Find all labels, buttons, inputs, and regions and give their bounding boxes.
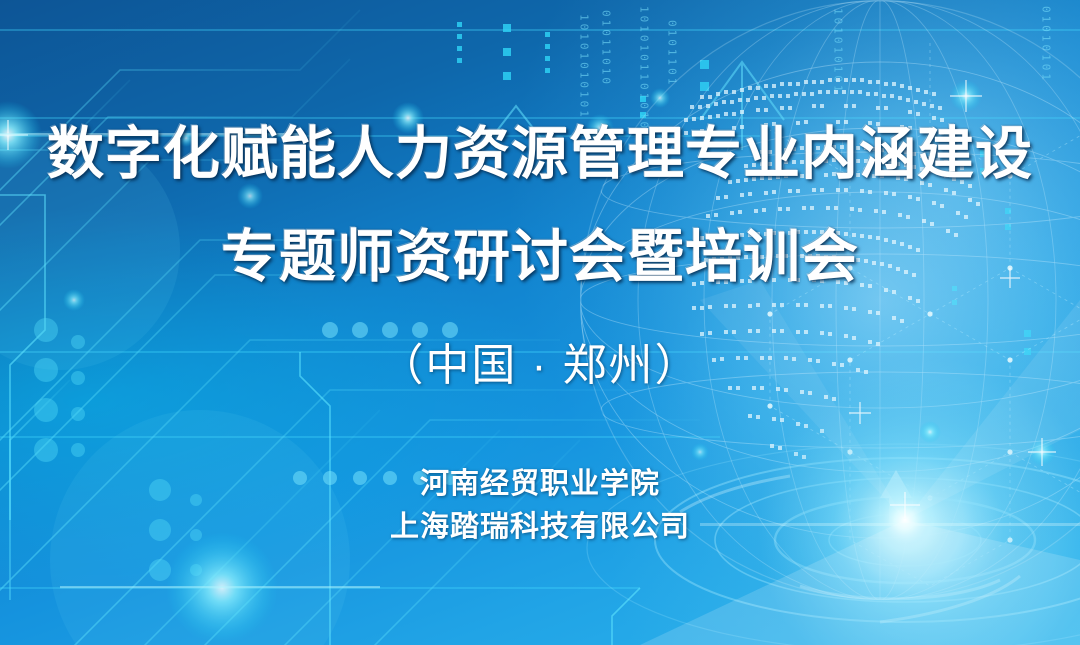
organizer-line-1: 河南经贸职业学院 <box>420 470 660 499</box>
organizer-list: 河南经贸职业学院 上海踏瑞科技有限公司 <box>390 470 690 542</box>
conference-banner: 10101010101 01011010 1010101101010 01011… <box>0 0 1080 645</box>
banner-location-subtitle: （中国 · 郑州） <box>379 344 700 388</box>
banner-content: 数字化赋能人力资源管理专业内涵建设 专题师资研讨会暨培训会 （中国 · 郑州） … <box>0 0 1080 645</box>
organizer-line-2: 上海踏瑞科技有限公司 <box>390 513 690 542</box>
banner-title-line-2: 专题师资研讨会暨培训会 <box>221 229 859 286</box>
banner-title-line-1: 数字化赋能人力资源管理专业内涵建设 <box>47 126 1033 183</box>
